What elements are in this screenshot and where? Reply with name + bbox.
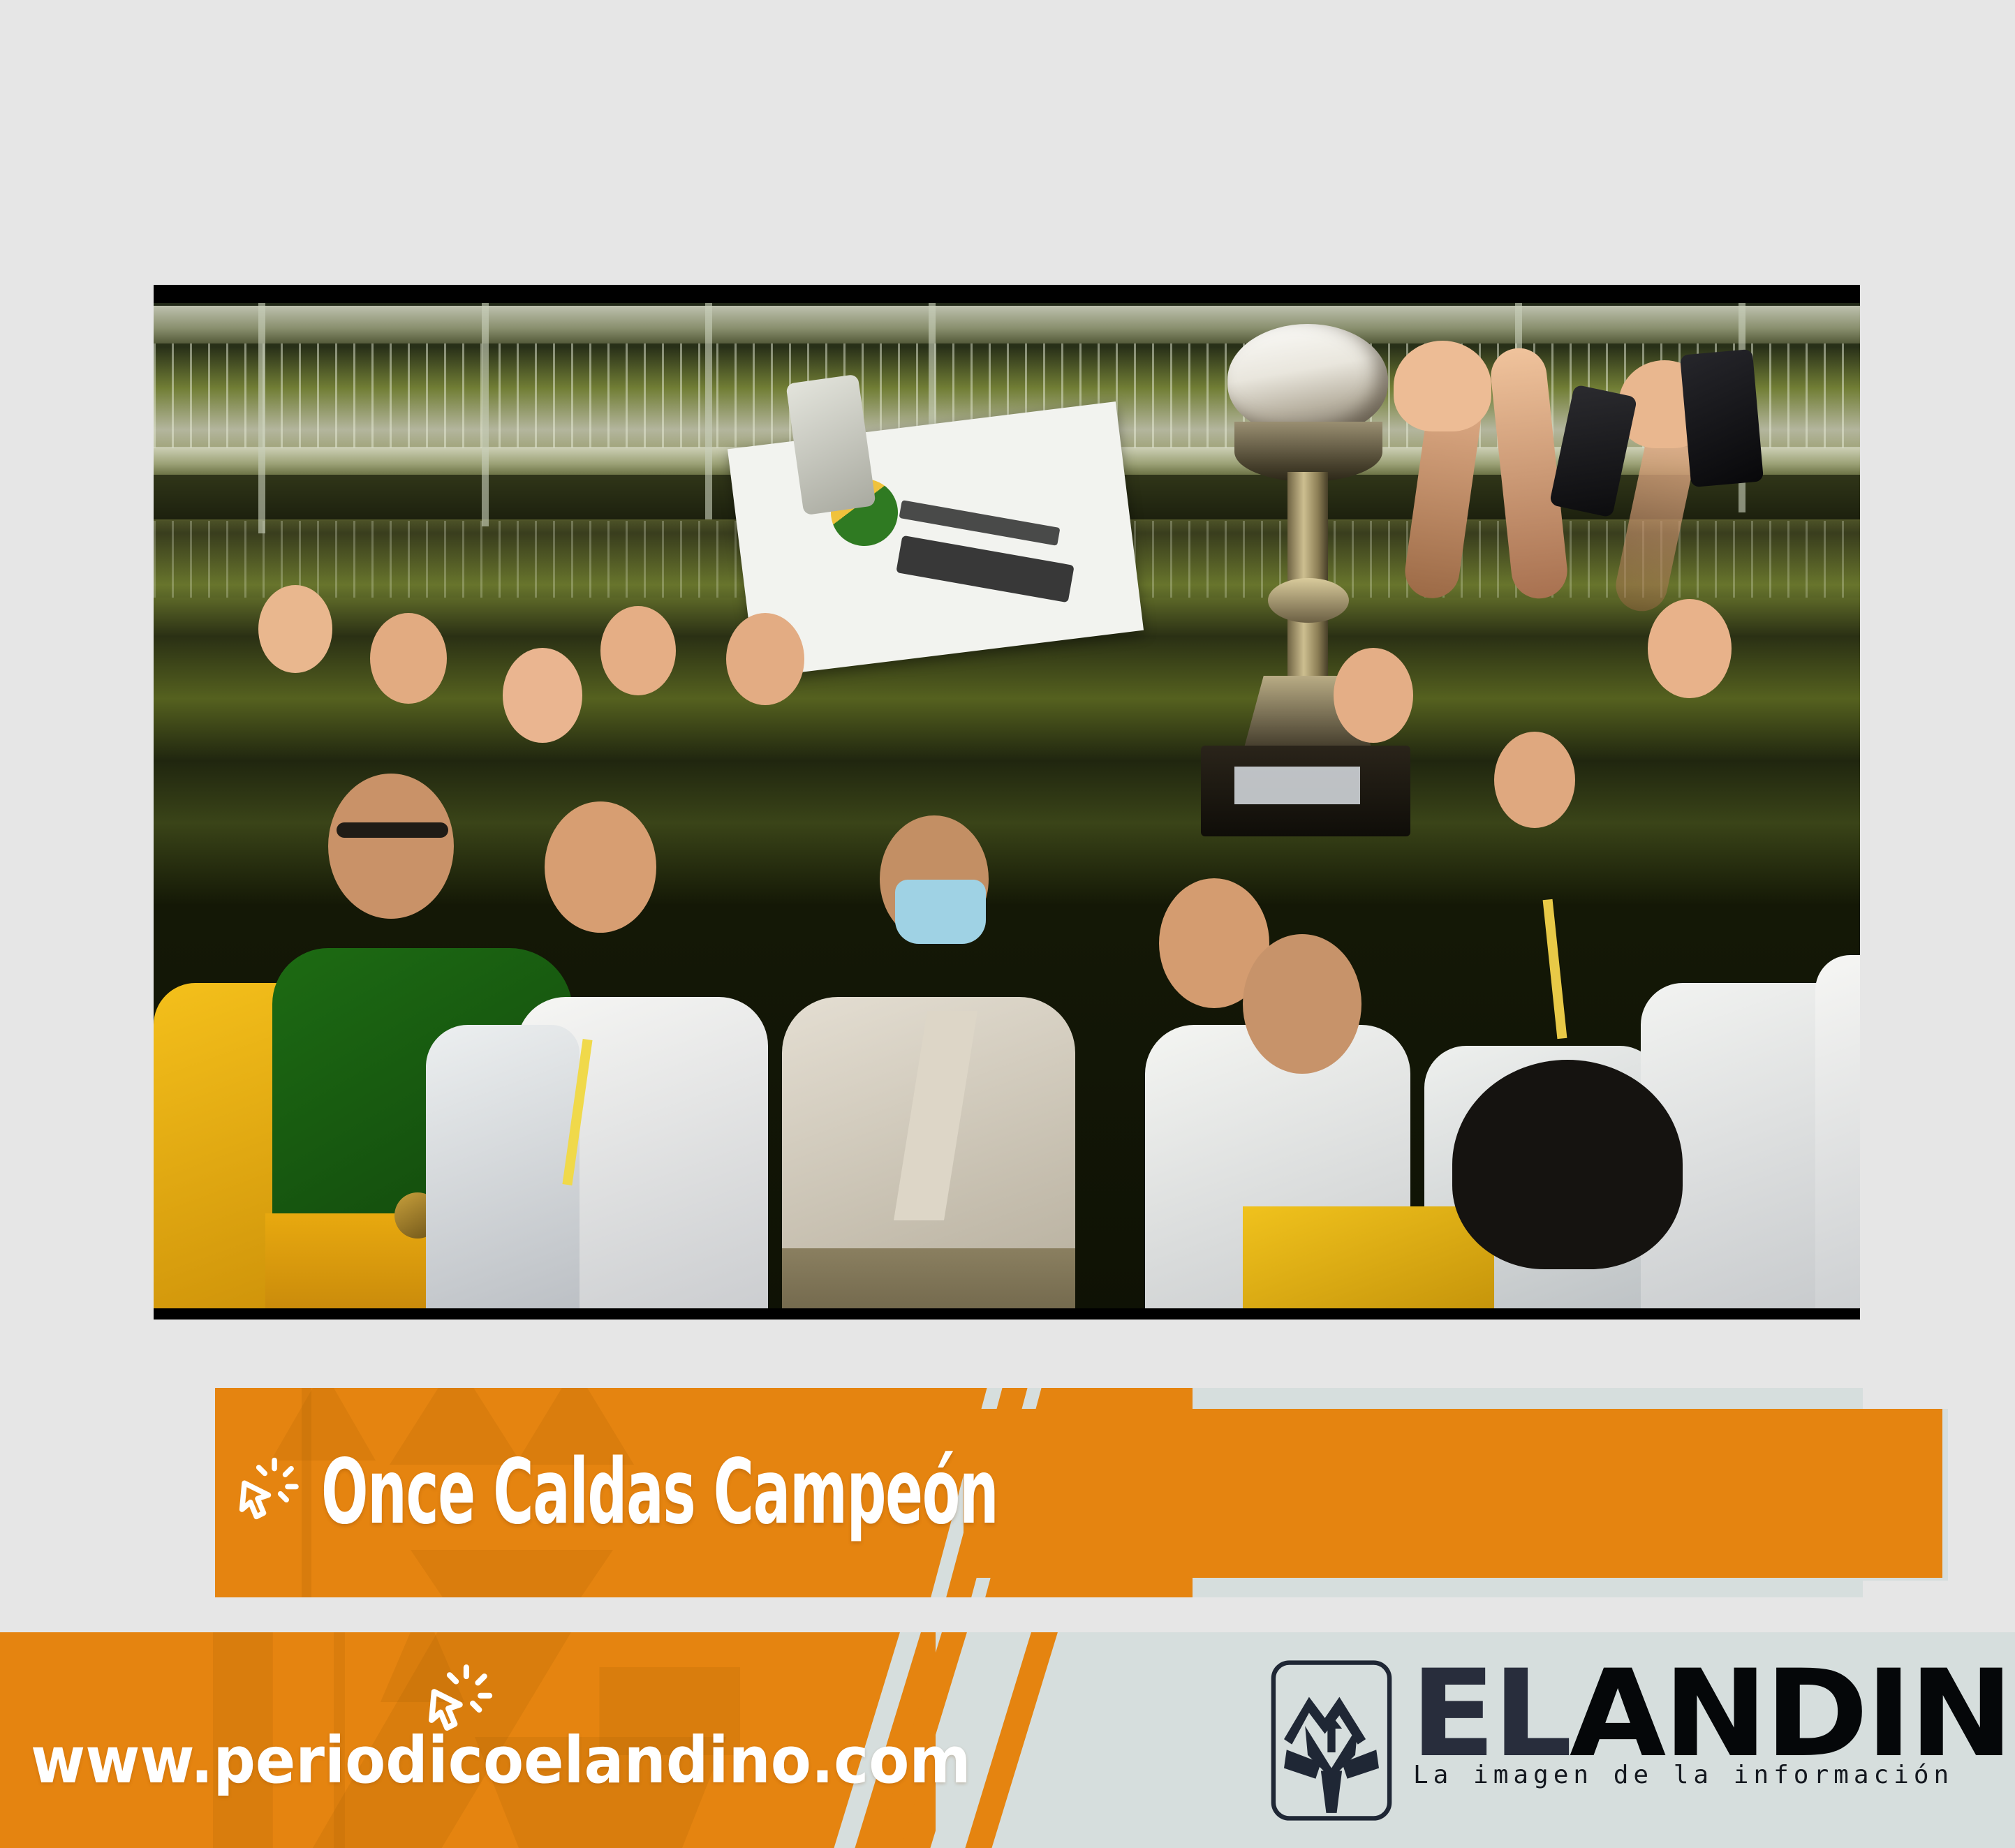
stadium-post (258, 303, 265, 533)
face-mask (895, 880, 986, 944)
person-head (370, 613, 447, 704)
trophy-knob (1268, 578, 1349, 623)
person-head (1243, 934, 1361, 1074)
logo-word-el: EL (1410, 1643, 1570, 1784)
person-head (258, 585, 332, 673)
logo-word-andino: ANDINO (1570, 1643, 2015, 1784)
person-head (1334, 648, 1413, 743)
trophy-plaque (1234, 767, 1360, 804)
person-head (503, 648, 582, 743)
title-bar[interactable]: Once Caldas Campeón (215, 1388, 1942, 1597)
person-head (1494, 732, 1575, 828)
photo-content (154, 285, 1860, 1320)
raised-hand (1394, 341, 1491, 431)
logo-wordmark: ELANDINO La imagen de la información (1410, 1657, 2015, 1789)
click-cursor-icon (228, 1454, 304, 1531)
trophy-stem (1287, 472, 1328, 681)
person-head-dark (1452, 1060, 1683, 1269)
player-shirt (426, 1025, 580, 1320)
smartphone (1680, 349, 1764, 487)
person-head (328, 774, 454, 919)
stadium-post (482, 303, 489, 526)
photo-letterbox-top (154, 285, 1860, 303)
mountain-condor-emblem-icon (1265, 1657, 1398, 1824)
elandino-logo[interactable]: ELANDINO La imagen de la información (1265, 1657, 1994, 1824)
stadium-rail (154, 306, 1860, 343)
person-head (545, 801, 656, 933)
website-url-link[interactable]: www.periodicoelandino.com (31, 1729, 971, 1793)
person-head (600, 606, 676, 695)
page-title: Once Caldas Campeón (321, 1448, 998, 1537)
trophy-cup (1227, 324, 1388, 436)
player-shirt-yellow (1243, 1206, 1494, 1320)
photo-letterbox-bottom (154, 1308, 1860, 1320)
celebration-photo (154, 285, 1860, 1320)
player-shirt (1815, 955, 1860, 1320)
eyeglasses (337, 822, 448, 838)
logo-word-row: ELANDINO (1410, 1657, 2015, 1771)
person-head (1648, 599, 1732, 698)
stadium-post (705, 303, 712, 519)
person-head (726, 613, 804, 705)
